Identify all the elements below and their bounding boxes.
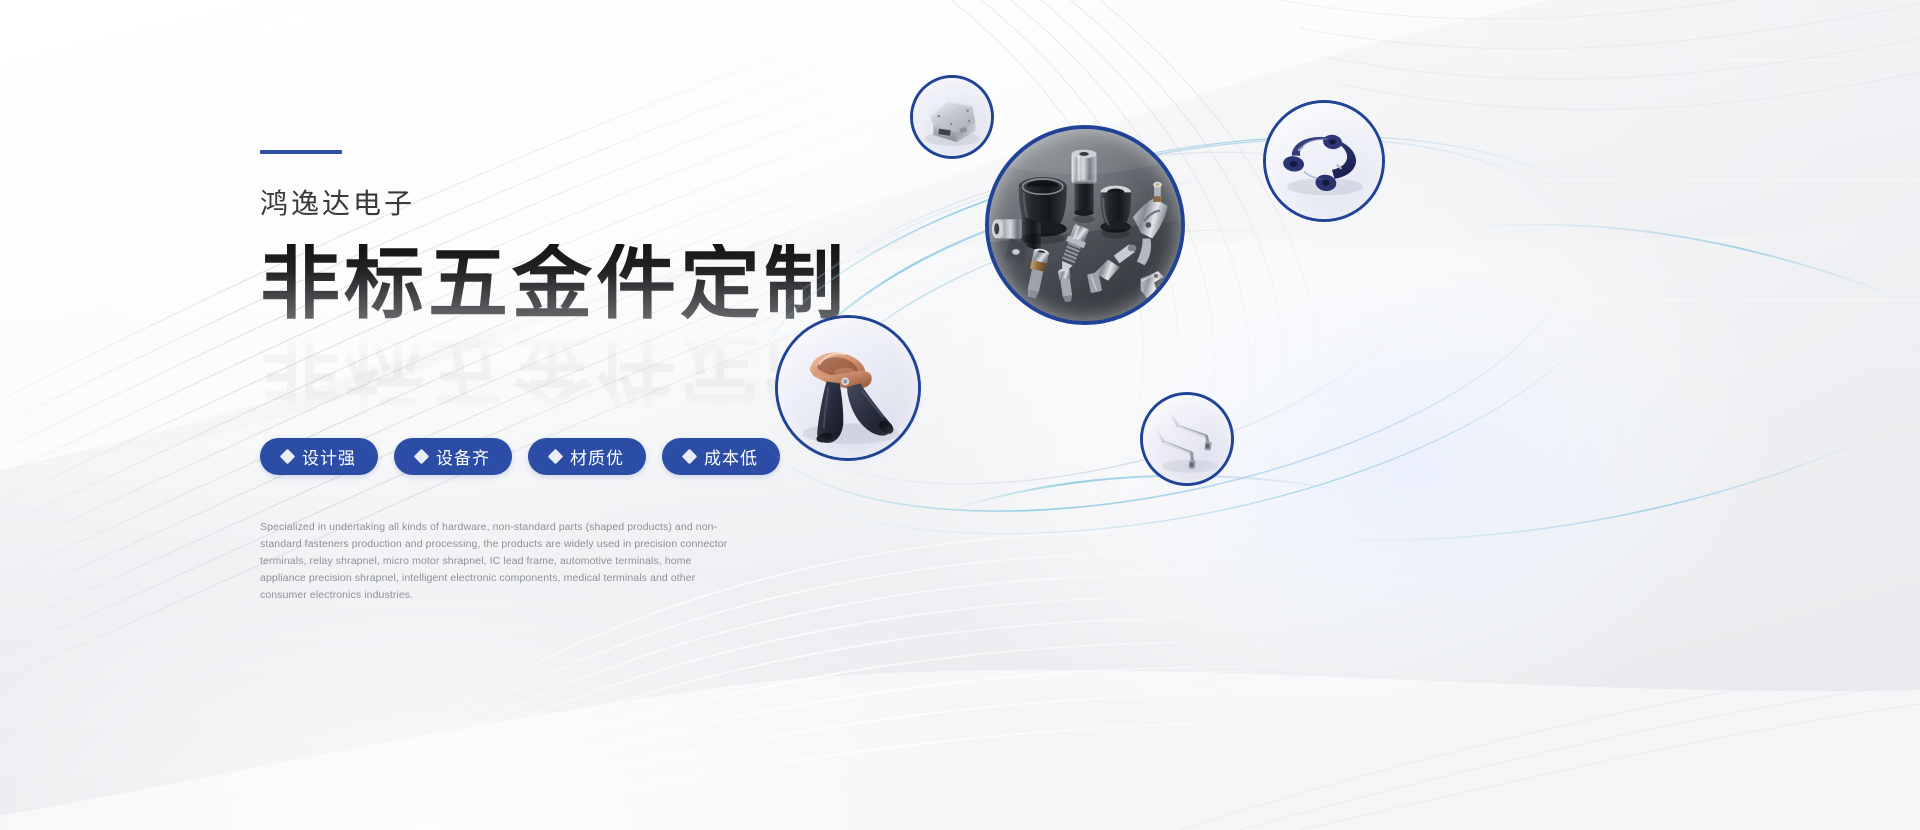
feature-pill-label: 设备齐: [436, 444, 490, 469]
product-node-bent-pins[interactable]: [1140, 392, 1234, 486]
blue-retaining-ring-photo: [1266, 103, 1382, 219]
diamond-icon: [548, 449, 564, 465]
feature-pill-material[interactable]: 材质优: [528, 438, 646, 475]
hero-banner: 鸿逸达电子 非标五金件定制 非标五金件定制 设计强 设备齐 材质优 成本低: [0, 0, 1920, 830]
description-paragraph: Specialized in undertaking all kinds of …: [260, 519, 730, 604]
metal-shield-enclosure-photo: [913, 78, 991, 156]
diamond-icon: [280, 449, 296, 465]
diamond-icon: [414, 449, 430, 465]
copper-battery-clamp-photo: [778, 318, 918, 458]
product-node-precision-components[interactable]: [985, 125, 1185, 325]
feature-pill-design[interactable]: 设计强: [260, 438, 378, 475]
feature-pill-equipment[interactable]: 设备齐: [394, 438, 512, 475]
diamond-icon: [682, 449, 698, 465]
product-node-metal-shield[interactable]: [910, 75, 994, 159]
feature-pill-label: 材质优: [570, 444, 624, 469]
feature-pill-label: 设计强: [302, 444, 356, 469]
precision-metal-components-photo: [989, 129, 1181, 321]
product-orbit-visual: [740, 120, 1920, 620]
product-node-retaining-ring[interactable]: [1263, 100, 1385, 222]
accent-rule: [260, 150, 342, 154]
bent-metal-pins-photo: [1143, 395, 1231, 483]
product-node-battery-clamp[interactable]: [775, 315, 921, 461]
